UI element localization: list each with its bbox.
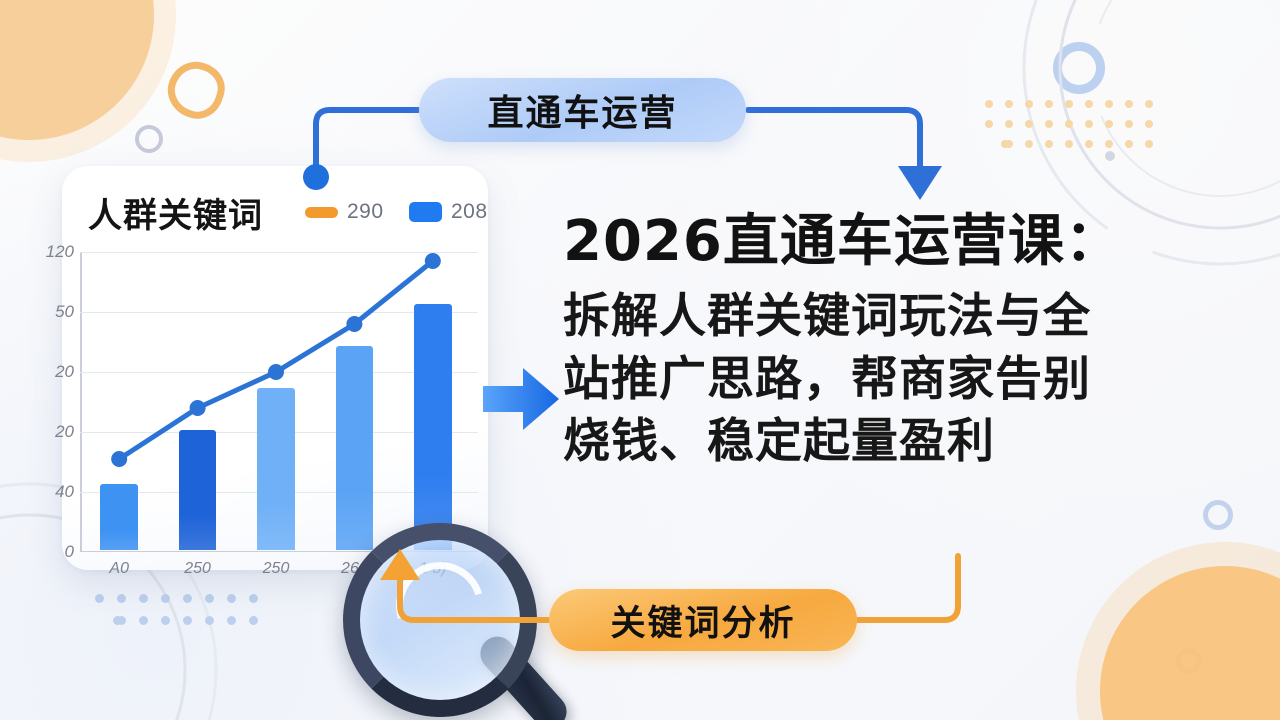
body-line-1: 拆解人群关键词玩法与全 <box>563 286 1223 348</box>
headline: 2026直通车运营课： <box>563 212 1223 272</box>
poster-canvas: 人群关键词 290 208 120502020400A02502502601 8… <box>0 0 1280 720</box>
body-copy: 拆解人群关键词玩法与全 站推广思路，帮商家告别 烧钱、稳定起量盈利 <box>563 286 1223 472</box>
badge-bottom-keyword-analysis[interactable]: 关键词分析 <box>549 589 857 651</box>
copy-block: 2026直通车运营课： 拆解人群关键词玩法与全 站推广思路，帮商家告别 烧钱、稳… <box>563 212 1223 473</box>
body-line-3: 烧钱、稳定起量盈利 <box>563 411 1223 473</box>
badge-top-direct-train[interactable]: 直通车运营 <box>419 78 746 142</box>
body-line-2: 站推广思路，帮商家告别 <box>563 349 1223 411</box>
